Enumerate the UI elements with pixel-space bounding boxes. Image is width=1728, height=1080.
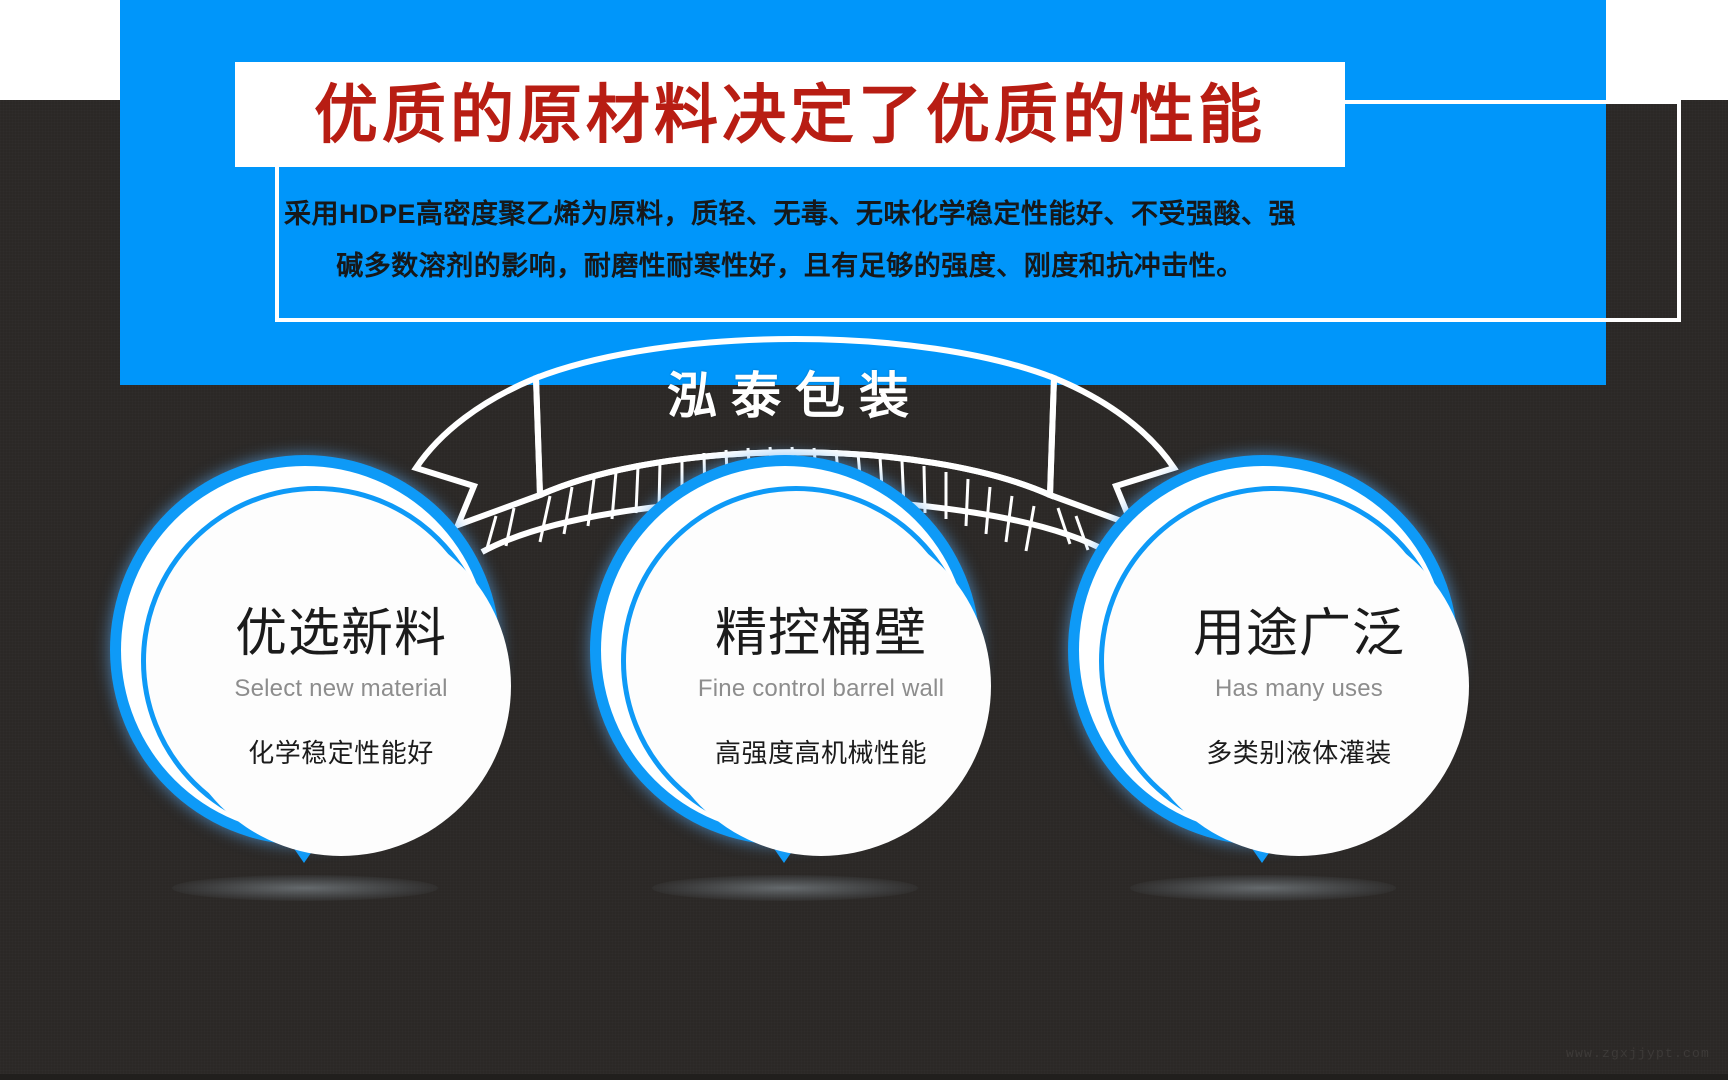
badge-subtitle: Select new material (234, 675, 447, 703)
badge-shadow (172, 875, 438, 901)
badge-title: 优选新料 (235, 606, 447, 663)
badge-shadow (1130, 875, 1396, 901)
title-banner: 优质的原材料决定了优质的性能 (235, 62, 1345, 167)
feature-badge-1[interactable]: 优选新料 Select new material 化学稳定性能好 (110, 455, 500, 925)
bottom-strip (0, 1074, 1728, 1080)
header-description: 采用HDPE高密度聚乙烯为原料，质轻、无毒、无味化学稳定性能好、不受强酸、强 碱… (200, 188, 1380, 292)
description-line-1: 采用HDPE高密度聚乙烯为原料，质轻、无毒、无味化学稳定性能好、不受强酸、强 (200, 188, 1380, 240)
badge-description: 化学稳定性能好 (248, 733, 434, 770)
description-line-2: 碱多数溶剂的影响，耐磨性耐寒性好，且有足够的强度、刚度和抗冲击性。 (200, 240, 1380, 292)
badge-outer-ring: 精控桶壁 Fine control barrel wall 高强度高机械性能 (590, 455, 980, 845)
brand-name: 泓泰包装 (400, 356, 1190, 428)
feature-badge-3[interactable]: 用途广泛 Has many uses 多类别液体灌装 (1068, 455, 1458, 925)
badge-subtitle: Has many uses (1215, 675, 1383, 703)
feature-badge-row: 优选新料 Select new material 化学稳定性能好 精控桶壁 F (0, 455, 1728, 955)
badge-content: 优选新料 Select new material 化学稳定性能好 (171, 516, 511, 856)
badge-outer-ring: 用途广泛 Has many uses 多类别液体灌装 (1068, 455, 1458, 845)
badge-inner-white: 用途广泛 Has many uses 多类别液体灌装 (1079, 466, 1447, 834)
badge-inner-white: 优选新料 Select new material 化学稳定性能好 (121, 466, 489, 834)
badge-subtitle: Fine control barrel wall (698, 675, 944, 703)
badge-description: 多类别液体灌装 (1206, 733, 1392, 770)
infographic-stage: 优质的原材料决定了优质的性能 采用HDPE高密度聚乙烯为原料，质轻、无毒、无味化… (0, 0, 1728, 1080)
badge-description: 高强度高机械性能 (715, 733, 927, 770)
badge-thin-ring: 精控桶壁 Fine control barrel wall 高强度高机械性能 (621, 486, 971, 836)
badge-content: 精控桶壁 Fine control barrel wall 高强度高机械性能 (651, 516, 991, 856)
site-watermark: www.zgxjjypt.com (1566, 1046, 1710, 1061)
badge-title: 精控桶壁 (715, 606, 927, 663)
badge-title: 用途广泛 (1193, 606, 1405, 663)
badge-shadow (652, 875, 918, 901)
feature-badge-2[interactable]: 精控桶壁 Fine control barrel wall 高强度高机械性能 (590, 455, 980, 925)
badge-thin-ring: 用途广泛 Has many uses 多类别液体灌装 (1099, 486, 1449, 836)
badge-outer-ring: 优选新料 Select new material 化学稳定性能好 (110, 455, 500, 845)
badge-thin-ring: 优选新料 Select new material 化学稳定性能好 (141, 486, 491, 836)
badge-inner-white: 精控桶壁 Fine control barrel wall 高强度高机械性能 (601, 466, 969, 834)
badge-content: 用途广泛 Has many uses 多类别液体灌装 (1129, 516, 1469, 856)
page-title: 优质的原材料决定了优质的性能 (314, 83, 1266, 147)
